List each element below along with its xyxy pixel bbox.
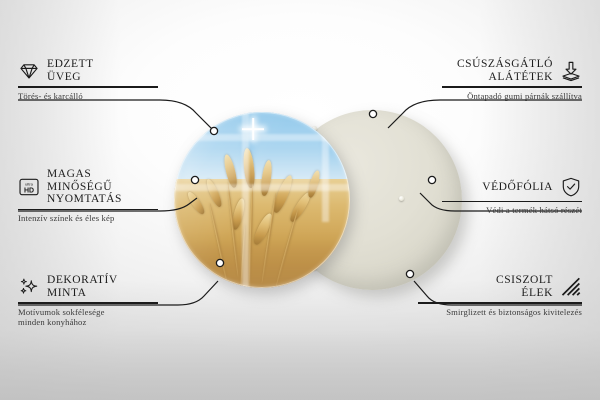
feature-header: CSISZOLT ÉLEK bbox=[418, 274, 582, 299]
feature-rule bbox=[18, 302, 158, 303]
printed-glass-disc bbox=[174, 112, 350, 288]
feature-subtitle: Smirglizett és biztonságos kivitelezés bbox=[418, 307, 582, 318]
feature-header: DEKORATÍV MINTA bbox=[18, 274, 158, 299]
feature-header: CSÚSZÁSGÁTLÓ ALÁTÉTEK bbox=[442, 58, 582, 83]
feature-header: VÉDŐFÓLIA bbox=[442, 176, 582, 198]
svg-text:ultra: ultra bbox=[25, 182, 34, 187]
feature-header: EDZETT ÜVEG bbox=[18, 58, 158, 83]
shield-check-icon bbox=[560, 176, 582, 198]
glare-sparkle-icon bbox=[242, 118, 264, 140]
feature-polished-edges[interactable]: CSISZOLT ÉLEK Smirglizett és biztonságos… bbox=[418, 274, 582, 317]
product-image bbox=[170, 100, 440, 300]
feature-subtitle: Intenzív színek és éles kép bbox=[18, 213, 158, 224]
bottom-vignette bbox=[0, 330, 600, 400]
feature-rule bbox=[418, 302, 582, 303]
feature-title: CSISZOLT ÉLEK bbox=[496, 274, 553, 299]
feature-rule bbox=[18, 86, 158, 87]
sparkles-icon bbox=[18, 276, 40, 298]
feature-subtitle: Törés- és karcálló bbox=[18, 91, 158, 102]
feature-rule bbox=[442, 86, 582, 87]
rubber-pad bbox=[399, 196, 404, 201]
feature-title: CSÚSZÁSGÁTLÓ ALÁTÉTEK bbox=[457, 58, 553, 83]
infographic-stage: EDZETT ÜVEG Törés- és karcálló ultra HD … bbox=[0, 0, 600, 400]
hatched-triangle-icon bbox=[560, 276, 582, 298]
diamond-icon bbox=[18, 60, 40, 82]
arrow-down-pad-icon bbox=[560, 60, 582, 82]
feature-title: EDZETT ÜVEG bbox=[47, 58, 94, 83]
feature-title: MAGAS MINŐSÉGŰ NYOMTATÁS bbox=[47, 168, 158, 206]
feature-decorative-pattern[interactable]: DEKORATÍV MINTA Motívumok sokfélesége mi… bbox=[18, 274, 158, 328]
feature-protective-film[interactable]: VÉDŐFÓLIA Védi a termék hátsó részét bbox=[442, 176, 582, 216]
feature-title: VÉDŐFÓLIA bbox=[482, 181, 553, 194]
feature-rule bbox=[18, 209, 158, 210]
ultra-hd-icon: ultra HD bbox=[18, 176, 40, 198]
feature-title: DEKORATÍV MINTA bbox=[47, 274, 118, 299]
feature-anti-slip-pads[interactable]: CSÚSZÁSGÁTLÓ ALÁTÉTEK Öntapadó gumi párn… bbox=[442, 58, 582, 101]
feature-tempered-glass[interactable]: EDZETT ÜVEG Törés- és karcálló bbox=[18, 58, 158, 101]
feature-subtitle: Motívumok sokfélesége minden konyhához bbox=[18, 307, 158, 328]
feature-rule bbox=[442, 201, 582, 202]
feature-subtitle: Védi a termék hátsó részét bbox=[442, 205, 582, 216]
svg-text:HD: HD bbox=[24, 188, 34, 195]
feature-high-quality-print[interactable]: ultra HD MAGAS MINŐSÉGŰ NYOMTATÁS Intenz… bbox=[18, 168, 158, 224]
feature-subtitle: Öntapadó gumi párnák szállítva bbox=[442, 91, 582, 102]
feature-header: ultra HD MAGAS MINŐSÉGŰ NYOMTATÁS bbox=[18, 168, 158, 206]
